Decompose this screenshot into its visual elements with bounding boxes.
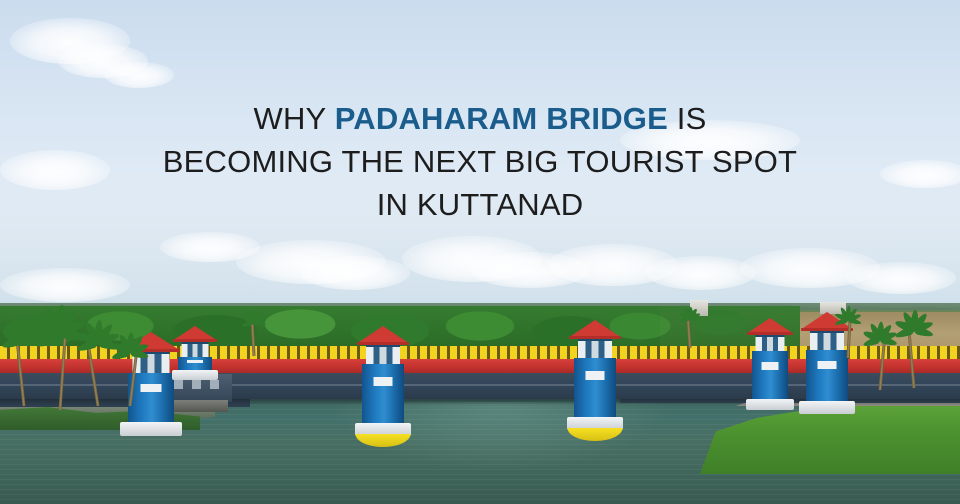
tower-column	[128, 373, 174, 422]
tower-mid-left	[362, 326, 404, 436]
hero-banner: WHY PADAHARAM BRIDGE IS BECOMING THE NEX…	[0, 0, 960, 504]
tower-mid-right	[574, 320, 616, 430]
headline-line-3-text: IN KUTTANAD	[377, 187, 584, 222]
headline-line-2-text: BECOMING THE NEXT BIG TOURIST SPOT	[163, 144, 797, 179]
machine-house-window	[210, 380, 219, 389]
tower-column	[178, 357, 212, 370]
tower-right-outer	[806, 312, 848, 414]
palm-right-4	[688, 312, 692, 348]
tower-column	[362, 364, 404, 423]
tower-column-band	[586, 371, 605, 380]
tower-column-band	[374, 377, 393, 386]
machine-house-window	[174, 380, 183, 389]
tower-column-band	[187, 360, 203, 363]
headline-line-2: BECOMING THE NEXT BIG TOURIST SPOT	[0, 143, 960, 186]
palm-right-2	[912, 322, 916, 388]
tower-column	[752, 351, 788, 399]
palm-right-3	[846, 314, 850, 358]
tower-roof	[571, 320, 619, 336]
tower-column-band	[818, 361, 837, 369]
tower-column	[806, 350, 848, 401]
headline-line-3: IN KUTTANAD	[0, 186, 960, 229]
tower-roof	[175, 326, 215, 339]
headline-accent-phrase: PADAHARAM BRIDGE	[335, 101, 668, 136]
tower-base	[799, 401, 855, 414]
palm-mid-1	[252, 316, 256, 356]
tower-right-inner	[752, 318, 788, 410]
tower-base	[120, 422, 182, 436]
machine-house-window	[192, 380, 201, 389]
tower-fender	[356, 434, 411, 447]
headline-line-1: WHY PADAHARAM BRIDGE IS	[0, 100, 960, 143]
palm-right-1	[878, 332, 882, 390]
tower-column	[574, 358, 616, 417]
headline-line-1-suffix: IS	[668, 101, 707, 136]
palm-left-1	[22, 330, 26, 406]
page-title: WHY PADAHARAM BRIDGE IS BECOMING THE NEX…	[0, 100, 960, 229]
tower-column-band	[762, 362, 779, 370]
tower-roof	[749, 318, 791, 332]
tower-base	[172, 370, 218, 380]
padaharam-bridge	[0, 0, 960, 504]
tower-roof	[359, 326, 407, 342]
palm-left-2	[58, 322, 62, 410]
tower-fender	[568, 428, 623, 441]
headline-line-1-prefix: WHY	[254, 101, 335, 136]
tower-left-inner	[178, 326, 212, 380]
palm-left-3	[96, 334, 100, 406]
tower-column-band	[141, 384, 162, 392]
palm-left-4	[128, 344, 132, 406]
tower-base	[746, 399, 794, 410]
